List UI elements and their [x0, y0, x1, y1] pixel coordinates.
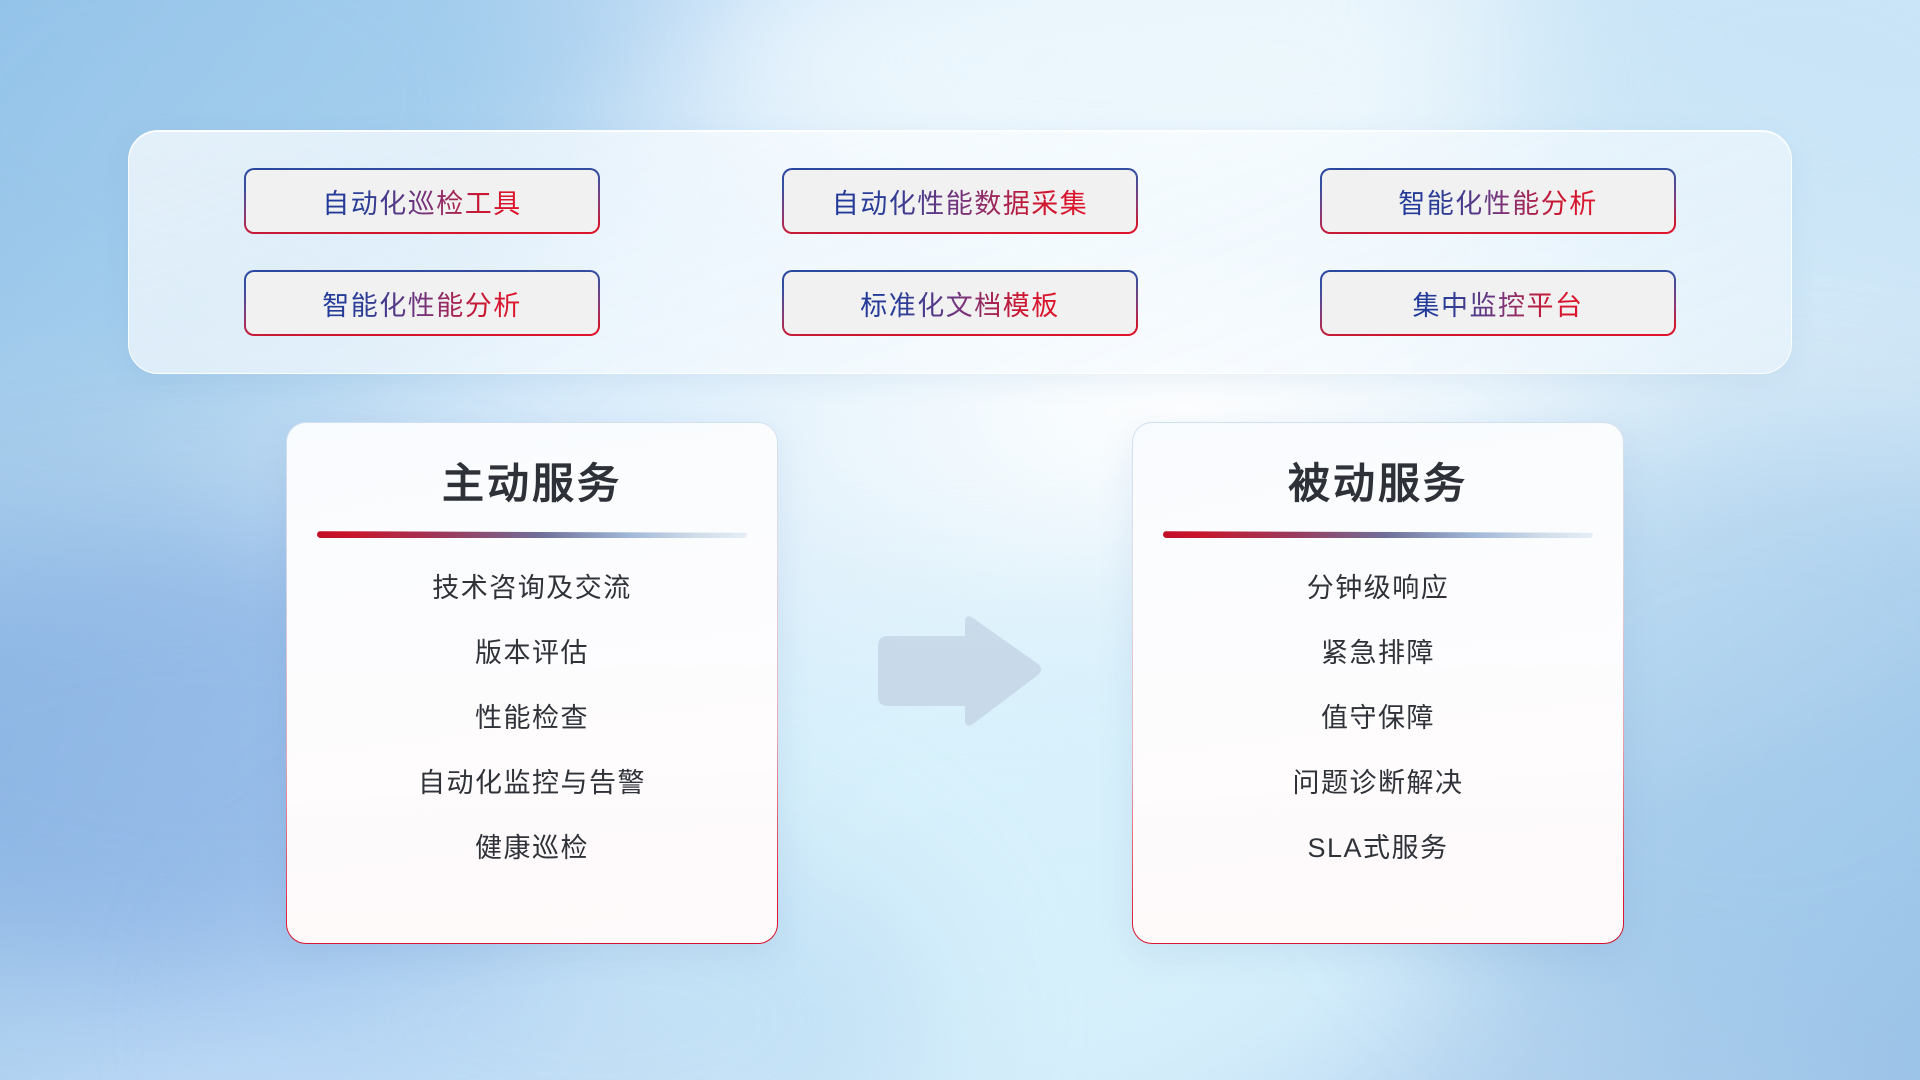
- list-item: 值守保障: [1321, 696, 1435, 735]
- capability-pill[interactable]: 集中监控平台: [1320, 270, 1676, 336]
- flow-arrow-right: [872, 612, 1044, 730]
- list-item: 技术咨询及交流: [432, 566, 632, 605]
- card-divider: [1163, 531, 1593, 538]
- capability-pill[interactable]: 自动化巡检工具: [244, 168, 600, 234]
- capability-pill[interactable]: 自动化性能数据采集: [782, 168, 1138, 234]
- capability-pill-label: 自动化巡检工具: [322, 182, 522, 221]
- list-item: 版本评估: [475, 631, 589, 670]
- service-card-reactive: 被动服务 分钟级响应 紧急排障 值守保障 问题诊断解决 SLA式服务: [1132, 422, 1624, 944]
- card-title: 主动服务: [442, 461, 622, 507]
- capability-pill-label: 自动化性能数据采集: [832, 182, 1089, 221]
- capability-pill-label: 集中监控平台: [1413, 284, 1584, 323]
- capability-pill[interactable]: 智能化性能分析: [244, 270, 600, 336]
- capability-pill-label: 标准化文档模板: [860, 284, 1060, 323]
- list-item: 问题诊断解决: [1293, 761, 1464, 800]
- card-divider: [317, 531, 747, 538]
- capability-pill[interactable]: 标准化文档模板: [782, 270, 1138, 336]
- capability-pill-label: 智能化性能分析: [322, 284, 522, 323]
- service-card-proactive: 主动服务 技术咨询及交流 版本评估 性能检查 自动化监控与告警 健康巡检: [286, 422, 778, 944]
- capability-pill[interactable]: 智能化性能分析: [1320, 168, 1676, 234]
- list-item: 健康巡检: [475, 826, 589, 865]
- card-title: 被动服务: [1288, 461, 1468, 507]
- list-item: 性能检查: [475, 696, 589, 735]
- card-item-list: 分钟级响应 紧急排障 值守保障 问题诊断解决 SLA式服务: [1161, 566, 1595, 865]
- list-item: 自动化监控与告警: [418, 761, 646, 800]
- arrow-right-icon: [872, 612, 1044, 730]
- capability-panel: 自动化巡检工具 自动化性能数据采集 智能化性能分析 智能化性能分析 标准化文档模…: [128, 130, 1792, 374]
- list-item: SLA式服务: [1307, 826, 1448, 865]
- list-item: 紧急排障: [1321, 631, 1435, 670]
- capability-pill-label: 智能化性能分析: [1398, 182, 1598, 221]
- card-item-list: 技术咨询及交流 版本评估 性能检查 自动化监控与告警 健康巡检: [315, 566, 749, 865]
- list-item: 分钟级响应: [1307, 566, 1450, 605]
